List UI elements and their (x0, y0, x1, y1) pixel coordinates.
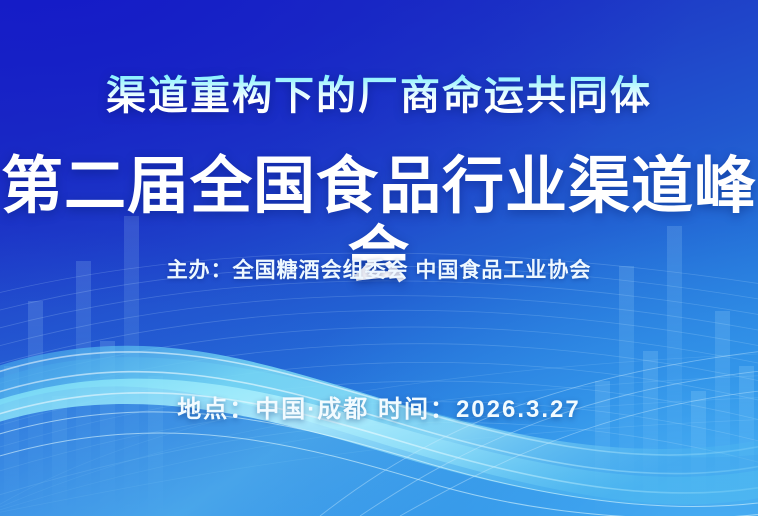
venue-and-date-line: 地点：中国·成都 时间：2026.3.27 (0, 389, 758, 424)
organizer-line: 主办：全国糖酒会组委会 中国食品工业协会 (0, 254, 758, 284)
poster-subtitle: 渠道重构下的厂商命运共同体 (0, 74, 758, 118)
event-poster: 渠道重构下的厂商命运共同体 第二届全国食品行业渠道峰会 主办：全国糖酒会组委会 … (0, 0, 758, 516)
poster-content: 渠道重构下的厂商命运共同体 第二届全国食品行业渠道峰会 主办：全国糖酒会组委会 … (0, 0, 758, 516)
